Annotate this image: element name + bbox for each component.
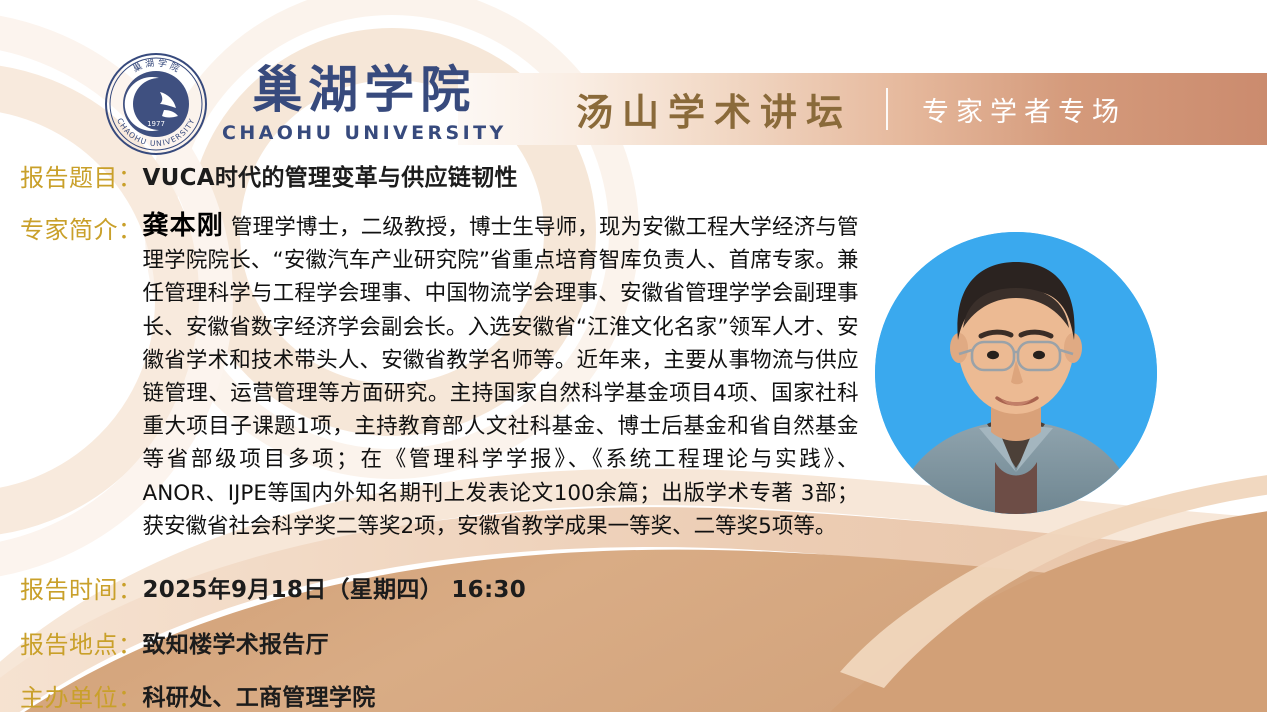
row-report-place: 报告地点： 致知楼学术报告厅 [20, 625, 329, 660]
lecture-poster: 汤山学术讲坛 专家学者专场 1977 巢 湖 学 院 CHAOHU UNIVER… [0, 0, 1267, 712]
value-report-place: 致知楼学术报告厅 [143, 625, 329, 659]
value-organizer: 科研处、工商管理学院 [143, 678, 376, 712]
row-speaker-bio: 专家简介： 龚本刚 管理学博士，二级教授，博士生导师，现为安徽工程大学经济与管理… [20, 210, 859, 543]
label-report-title: 报告题目： [20, 158, 143, 193]
label-organizer: 主办单位： [20, 678, 143, 712]
label-speaker-bio: 专家简介： [20, 210, 143, 245]
banner-divider [886, 88, 888, 130]
value-report-title: VUCA时代的管理变革与供应链韧性 [143, 158, 518, 192]
value-report-time: 2025年9月18日（星期四） 16:30 [143, 570, 527, 604]
chaohu-university-seal-icon: 1977 巢 湖 学 院 CHAOHU UNIVERSITY [104, 52, 208, 156]
label-report-time: 报告时间： [20, 570, 143, 605]
label-report-place: 报告地点： [20, 625, 143, 660]
logo-name-en: CHAOHU UNIVERSITY [222, 124, 507, 143]
speaker-portrait-image [875, 232, 1157, 514]
speaker-portrait [875, 232, 1157, 514]
row-organizer: 主办单位： 科研处、工商管理学院 [20, 678, 376, 712]
university-logo: 1977 巢 湖 学 院 CHAOHU UNIVERSITY 巢湖学院 CHAO… [104, 52, 507, 156]
event-banner: 汤山学术讲坛 专家学者专场 [458, 73, 1267, 145]
row-report-time: 报告时间： 2025年9月18日（星期四） 16:30 [20, 570, 526, 605]
svg-text:1977: 1977 [147, 120, 165, 128]
logo-name-cn: 巢湖学院 [252, 65, 476, 115]
speaker-name: 龚本刚 [143, 211, 224, 241]
speaker-bio-body: 管理学博士，二级教授，博士生导师，现为安徽工程大学经济与管理学院院长、“安徽汽车… [143, 215, 859, 539]
banner-subtitle: 专家学者专场 [922, 90, 1126, 129]
speaker-bio-text: 龚本刚 管理学博士，二级教授，博士生导师，现为安徽工程大学经济与管理学院院长、“… [143, 210, 859, 543]
row-report-title: 报告题目： VUCA时代的管理变革与供应链韧性 [20, 158, 518, 193]
deco-corner-block [826, 506, 1267, 712]
banner-main-title: 汤山学术讲坛 [576, 82, 852, 136]
